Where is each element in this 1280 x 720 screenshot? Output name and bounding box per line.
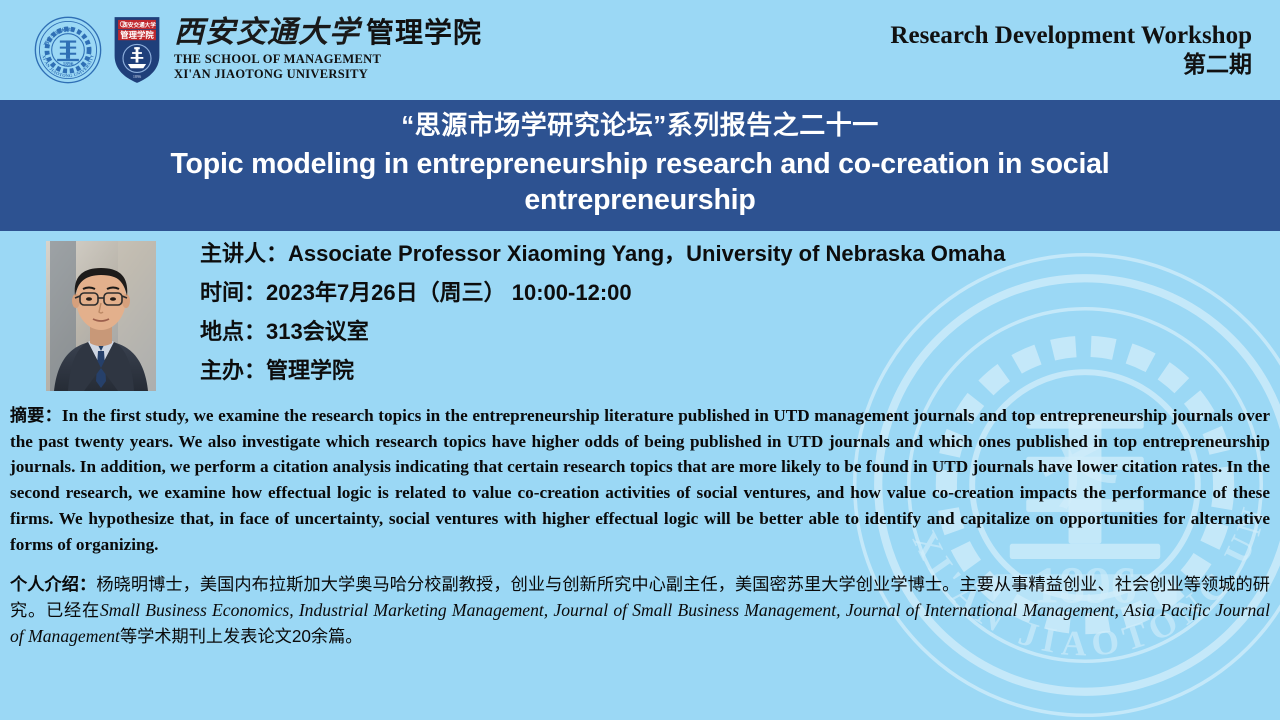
series-title: “思源市场学研究论坛”系列报告之二十一 <box>70 109 1210 143</box>
bio-text-after: 等学术期刊上发表论文20余篇。 <box>120 626 363 646</box>
speaker-line-presenter: 主讲人：Associate Professor Xiaoming Yang，Un… <box>200 243 1005 265</box>
poster-body: 摘要：In the first study, we examine the re… <box>0 399 1280 650</box>
wordmark-cn-bold: 管理学院 <box>366 19 482 47</box>
bio-paragraph: 个人介绍：杨晓明博士，美国内布拉斯加大学奥马哈分校副教授，创业与创新所究中心副主… <box>10 571 1270 651</box>
abstract-label: 摘要： <box>10 406 62 425</box>
workshop-session: 第二期 <box>890 52 1252 78</box>
wordmark-en-line1: THE SCHOOL OF MANAGEMENT <box>174 52 482 67</box>
header-right-block: Research Development Workshop 第二期 <box>890 22 1252 78</box>
speaker-line-location: 地点：313会议室 <box>200 321 1005 343</box>
svg-text:1896: 1896 <box>133 74 141 79</box>
speaker-line-organizer: 主办：管理学院 <box>200 360 1005 382</box>
speaker-detail-lines: 主讲人：Associate Professor Xiaoming Yang，Un… <box>200 243 1005 399</box>
university-logo-group: 1896 西安交通大学 XI'AN JIAOTONG UNIVERSITY 西安… <box>34 15 482 85</box>
poster-root: 1896 大 XI'AN JIAOTONG UNIVERSITY <box>0 0 1280 720</box>
abstract-paragraph: 摘要：In the first study, we examine the re… <box>10 403 1270 558</box>
speaker-portrait <box>46 241 156 391</box>
university-wordmark: 西安交通大学 管理学院 THE SCHOOL OF MANAGEMENT XI'… <box>174 18 482 82</box>
talk-title: Topic modeling in entrepreneurship resea… <box>70 146 1210 219</box>
title-band: “思源市场学研究论坛”系列报告之二十一 Topic modeling in en… <box>0 100 1280 231</box>
svg-text:管理学院: 管理学院 <box>120 30 154 40</box>
wordmark-en-line2: XI'AN JIAOTONG UNIVERSITY <box>174 67 482 82</box>
som-shield-icon: 西安交通大学 管理学院 1896 <box>112 15 162 85</box>
bio-label: 个人介绍： <box>10 574 96 594</box>
poster-header: 1896 西安交通大学 XI'AN JIAOTONG UNIVERSITY 西安… <box>0 0 1280 100</box>
abstract-text: In the first study, we examine the resea… <box>10 406 1270 554</box>
speaker-info-row: 主讲人：Associate Professor Xiaoming Yang，Un… <box>0 231 1280 399</box>
workshop-name: Research Development Workshop <box>890 22 1252 50</box>
xjtu-seal-icon: 1896 西安交通大学 XI'AN JIAOTONG UNIVERSITY <box>34 16 102 84</box>
wordmark-cn-script: 西安交通大学 <box>174 18 360 48</box>
svg-text:1896: 1896 <box>63 62 74 68</box>
speaker-line-time: 时间：2023年7月26日（周三） 10:00-12:00 <box>200 282 1005 304</box>
